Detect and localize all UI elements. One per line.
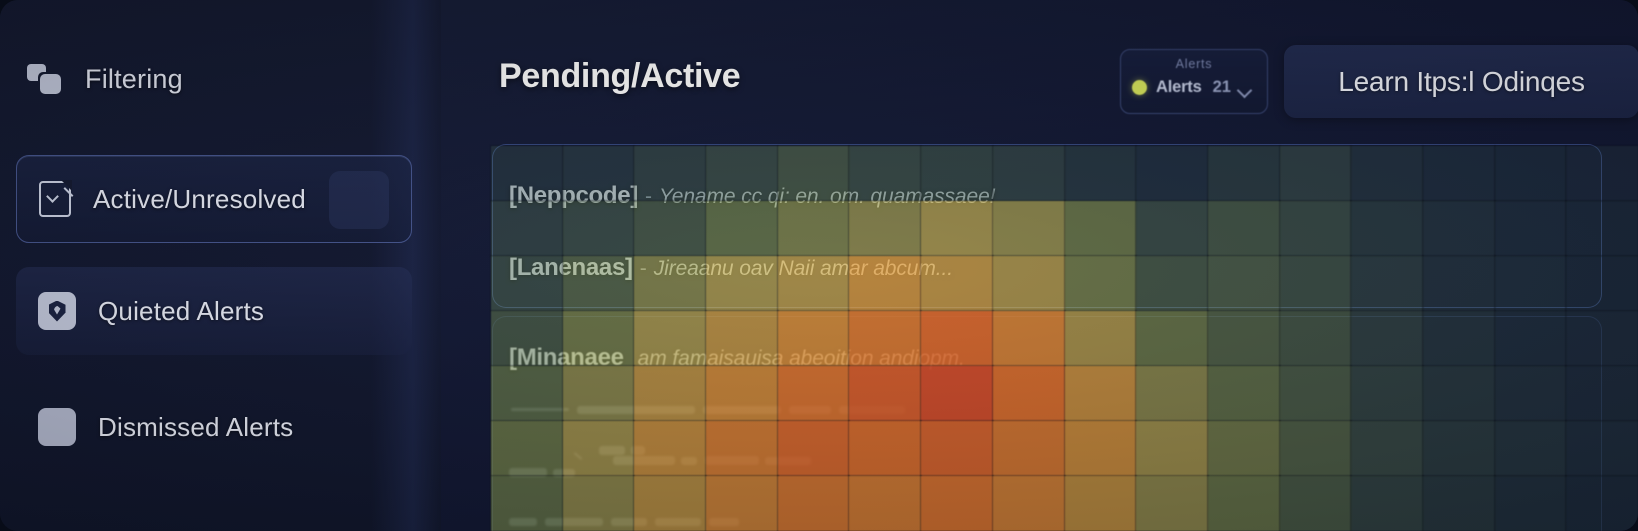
sidebar-item-label: Quieted Alerts	[98, 296, 264, 327]
skeleton-line	[765, 457, 811, 465]
learn-more-button-label: Learn Itps:l Odinqes	[1338, 66, 1585, 98]
status-dot-icon	[1132, 80, 1147, 95]
sidebar-item-dismissed-alerts[interactable]: Dismissed Alerts	[16, 383, 412, 471]
alert-row-tag: [Neppcode]	[509, 182, 638, 209]
dropdown-caption: Alerts	[1121, 57, 1267, 71]
skeleton-line	[655, 518, 701, 526]
skeleton-line	[553, 469, 575, 477]
main-panel: Pending/Active Alerts Alerts 21 Learn It…	[441, 0, 1638, 531]
alert-row-tag: [Lanenaas]	[509, 254, 633, 281]
alert-row-description: am famaisauisa abeoition andiopm.	[638, 347, 965, 370]
skeleton-line	[703, 406, 781, 414]
document-chevron-icon	[39, 181, 71, 217]
sidebar-header-label: Filtering	[85, 64, 183, 95]
sidebar-item-label: Active/Unresolved	[93, 184, 306, 215]
alert-row-description: Jireaanu oav Naii amar abcum...	[654, 257, 953, 280]
skeleton-line	[611, 518, 647, 526]
dropdown-value: Alerts	[1156, 78, 1202, 97]
skeleton-line	[839, 406, 905, 414]
skeleton-line	[613, 456, 675, 465]
skeleton-line	[509, 468, 547, 477]
page-title: Pending/Active	[499, 57, 740, 96]
skeleton-line	[577, 406, 695, 414]
skeleton-line	[599, 446, 625, 455]
skeleton-line	[631, 446, 645, 455]
learn-more-button[interactable]: Learn Itps:l Odinqes	[1284, 45, 1638, 118]
sidebar-item-badge-placeholder	[329, 171, 389, 229]
skeleton-line	[789, 406, 831, 414]
alert-row-description: Yename cc qi: en. om. quamassaee!	[659, 185, 995, 208]
dropdown-value-row: Alerts 21	[1132, 78, 1231, 97]
sidebar-item-active-unresolved[interactable]: Active/Unresolved	[16, 155, 412, 243]
alerts-card-primary[interactable]	[492, 144, 1602, 308]
alert-row[interactable]: [Lanenaas]-Jireaanu oav Naii amar abcum.…	[509, 254, 953, 282]
alerts-dashboard: Filtering Active/Unresolved Quieted Aler…	[0, 0, 1638, 531]
alert-row[interactable]: [Neppcode]-Yename cc qi: en. om. quamass…	[509, 182, 995, 210]
alert-row-dash: -	[645, 185, 652, 208]
alerts-filter-dropdown[interactable]: Alerts Alerts 21	[1120, 49, 1268, 114]
alert-row[interactable]: [Minanaeeam famaisauisa abeoition andiop…	[509, 344, 965, 372]
sidebar-item-quieted-alerts[interactable]: Quieted Alerts	[16, 267, 412, 355]
skeleton-line	[681, 457, 697, 465]
sidebar: Filtering Active/Unresolved Quieted Aler…	[0, 0, 441, 531]
sidebar-header: Filtering	[27, 62, 183, 96]
skeleton-line	[511, 408, 569, 411]
chevron-down-icon[interactable]	[1237, 83, 1253, 99]
square-icon	[38, 408, 76, 446]
skeleton-line	[509, 518, 537, 526]
alert-row-dash: -	[640, 257, 647, 280]
alert-row-tag: [Minanaee	[509, 344, 624, 371]
copy-squares-icon	[27, 62, 63, 96]
skeleton-line	[709, 518, 739, 526]
dropdown-count: 21	[1213, 78, 1231, 97]
shield-icon	[38, 292, 76, 330]
skeleton-line	[705, 456, 759, 465]
sidebar-item-label: Dismissed Alerts	[98, 412, 293, 443]
skeleton-line	[545, 518, 603, 526]
